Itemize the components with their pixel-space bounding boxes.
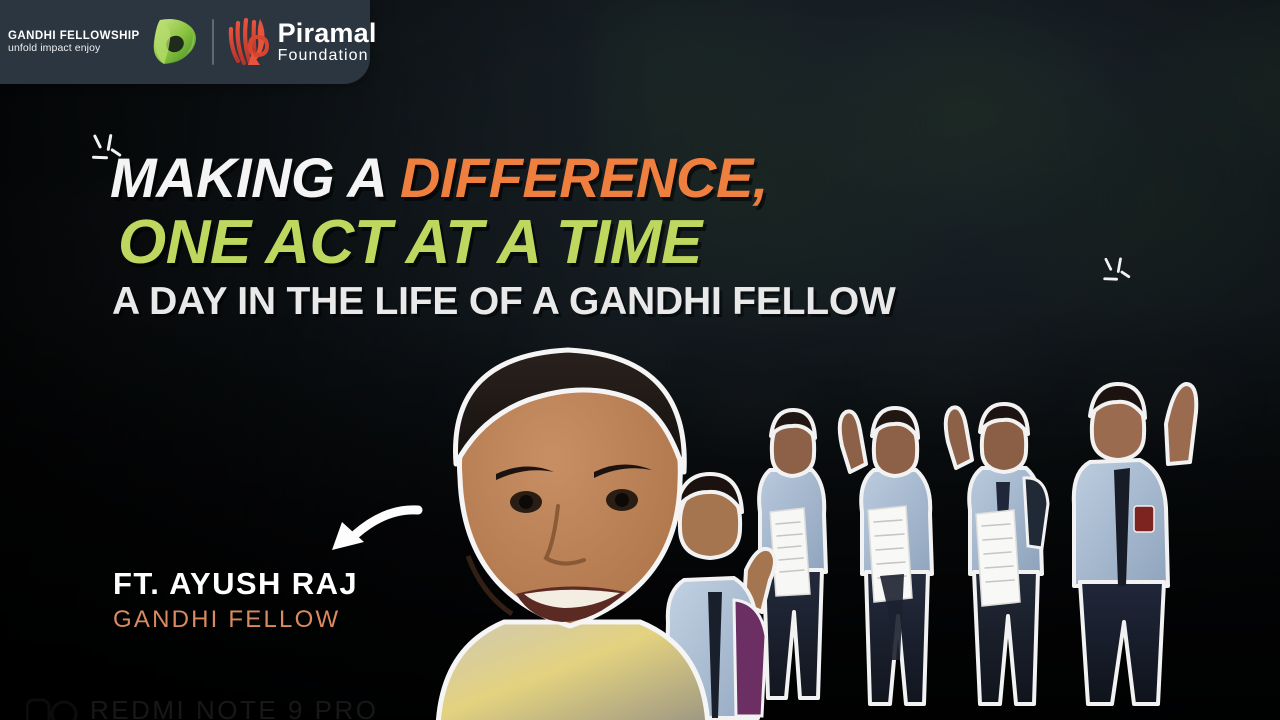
featured-role: GANDHI FELLOW [113,606,358,634]
headline-line-1-orange: DIFFERENCE, [400,146,768,209]
featured-name: FT. AYUSH RAJ [113,566,358,602]
gandhi-fellowship-name: GANDHI FELLOWSHIP [8,30,140,42]
vertical-divider [212,19,214,65]
piramal-sub: Foundation [278,48,377,64]
gandhi-fellowship-wordmark: GANDHI FELLOWSHIP unfold impact enjoy [8,30,146,54]
piramal-wordmark: Piramal Foundation [278,20,377,64]
headline-block: MAKING A DIFFERENCE, ONE ACT AT A TIME A… [110,148,896,324]
headline-line-1: MAKING A DIFFERENCE, [110,148,896,208]
gandhi-fellow-selfie [408,326,738,720]
video-thumbnail: GANDHI FELLOWSHIP unfold impact enjoy [0,0,1280,720]
gandhi-fellowship-tagline: unfold impact enjoy [8,43,140,54]
headline-line-3: A DAY IN THE LIFE OF A GANDHI FELLOW [112,280,896,324]
student-boy-2 [1048,350,1228,708]
curved-arrow-down-left-icon [306,498,426,562]
orange-flame-icon [224,13,270,71]
headline-line-2: ONE ACT AT A TIME [118,210,896,276]
sparkle-burst-icon [1100,257,1137,288]
featured-credit: FT. AYUSH RAJ GANDHI FELLOW [113,566,358,634]
green-ribbon-loop-icon [150,14,202,70]
headline-line-1-white: MAKING A [110,146,400,209]
brand-logo-bar: GANDHI FELLOWSHIP unfold impact enjoy [0,0,370,84]
sparkle-burst-icon [88,134,128,168]
piramal-name: Piramal [278,20,377,47]
